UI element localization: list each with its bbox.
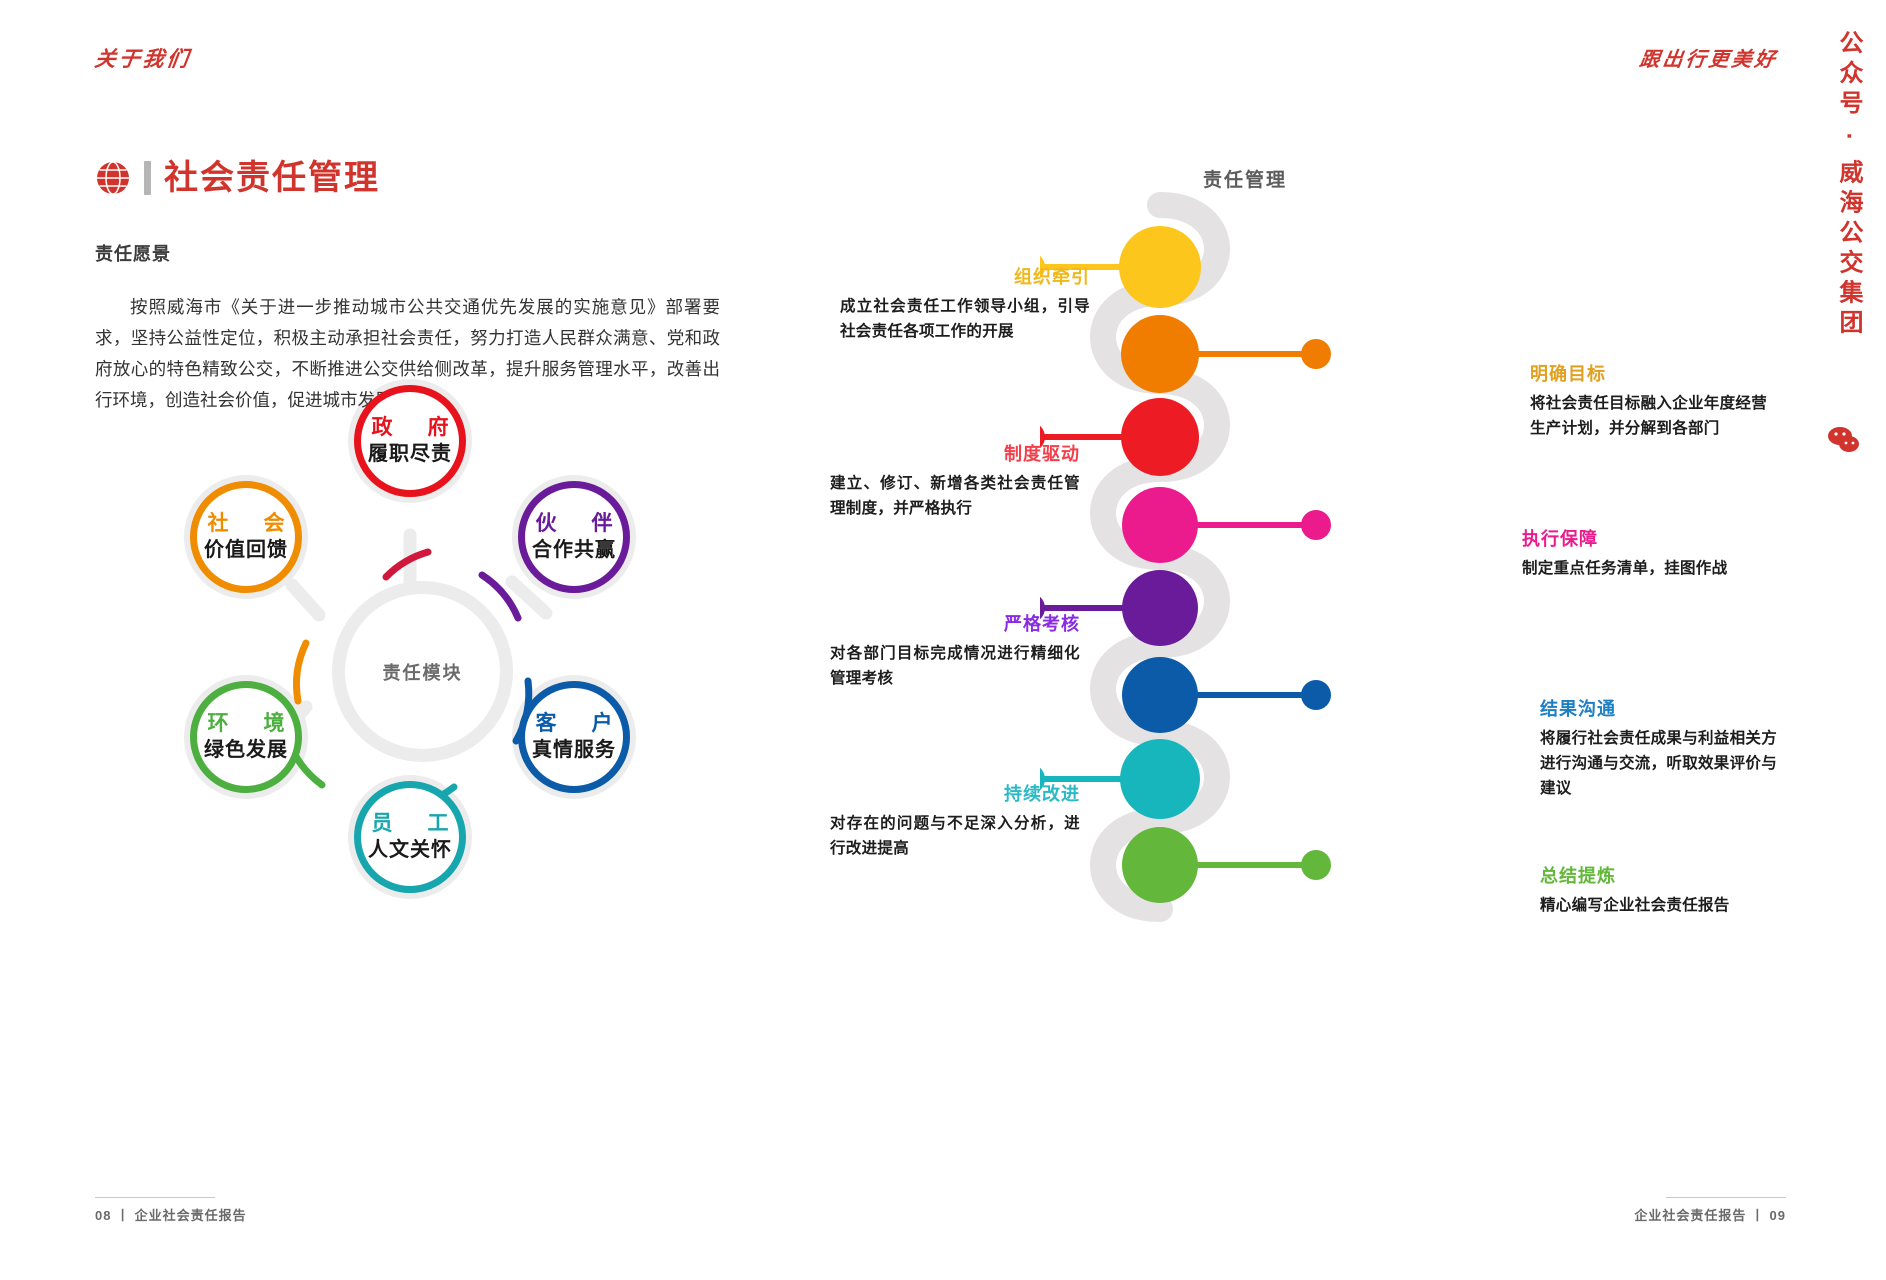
hub-center-label: 责任模块 (383, 659, 463, 685)
hub-node-government[interactable]: 政 府 履职尽责 (354, 385, 466, 497)
page-root: 关于我们 跟出行更美好 公众号 · 威海公交集团 社会责任管理 (0, 0, 1886, 1280)
flow-step-desc: 对各部门目标完成情况进行精细化管理考核 (830, 641, 1080, 691)
page-title-text: 社会责任管理 (164, 161, 380, 195)
flow-step-label: 组织牵引 (840, 263, 1090, 289)
flow-step-system-driven[interactable]: 制度驱动 建立、修订、新增各类社会责任管理制度，并严格执行 (830, 440, 1080, 521)
flow-step-clear-goals[interactable]: 明确目标 将社会责任目标融入企业年度经营生产计划，并分解到各部门 (1530, 360, 1780, 441)
hub-node-employee[interactable]: 员 工 人文关怀 (354, 781, 466, 893)
flow-step-desc: 成立社会责任工作领导小组，引导社会责任各项工作的开展 (840, 294, 1090, 344)
hub-node-title: 伙 伴 (529, 512, 620, 536)
flow-step-label: 明确目标 (1530, 360, 1780, 386)
flow-step-label: 持续改进 (830, 780, 1080, 806)
flow-step-desc: 制定重点任务清单，挂图作战 (1522, 556, 1772, 581)
title-divider (144, 161, 151, 195)
flow-step-organizational-traction[interactable]: 组织牵引 成立社会责任工作领导小组，引导社会责任各项工作的开展 (840, 263, 1090, 344)
flow-step-strict-assessment[interactable]: 严格考核 对各部门目标完成情况进行精细化管理考核 (830, 610, 1080, 691)
sub-heading: 责任愿景 (95, 240, 171, 266)
flow-step-summary-refinement[interactable]: 总结提炼 精心编写企业社会责任报告 (1540, 862, 1810, 918)
hub-node-society[interactable]: 社 会 价值回馈 (190, 481, 302, 593)
hub-node-subtitle: 绿色发展 (204, 738, 288, 762)
hub-node-title: 政 府 (365, 416, 456, 440)
flow-step-desc: 将社会责任目标融入企业年度经营生产计划，并分解到各部门 (1530, 391, 1780, 441)
flow-step-label: 执行保障 (1522, 525, 1772, 551)
hub-node-customer[interactable]: 客 户 真情服务 (518, 681, 630, 793)
flow-step-label: 总结提炼 (1540, 862, 1810, 888)
hub-node-subtitle: 人文关怀 (368, 838, 452, 862)
hub-node-title: 员 工 (365, 812, 456, 836)
footer-rule-left (95, 1197, 215, 1198)
flow-step-result-communication[interactable]: 结果沟通 将履行社会责任成果与利益相关方进行沟通与交流，听取效果评价与建议 (1540, 695, 1790, 801)
hub-node-environment[interactable]: 环 境 绿色发展 (190, 681, 302, 793)
hub-center: 责任模块 (332, 581, 513, 762)
flow-snake-path (1040, 165, 1600, 925)
footer-rule-right (1666, 1197, 1786, 1198)
hub-node-subtitle: 合作共赢 (532, 538, 616, 562)
globe-icon (95, 160, 131, 196)
responsibility-flow-diagram (1040, 165, 1600, 925)
running-head-left: 关于我们 (93, 43, 193, 73)
flow-step-label: 制度驱动 (830, 440, 1080, 466)
flow-step-label: 结果沟通 (1540, 695, 1790, 721)
page-title: 社会责任管理 (95, 160, 380, 196)
responsibility-hub-diagram: 责任模块 政 府 履职尽责 伙 伴 合作共赢 客 户 真情服务 员 工 人文关怀 (140, 385, 680, 915)
flow-step-desc: 将履行社会责任成果与利益相关方进行沟通与交流，听取效果评价与建议 (1540, 726, 1790, 801)
spine-text: 公众号 · 威海公交集团 (1831, 30, 1866, 339)
footer-left: 08 丨 企业社会责任报告 (95, 1205, 247, 1224)
hub-node-subtitle: 真情服务 (532, 738, 616, 762)
flow-step-desc: 建立、修订、新增各类社会责任管理制度，并严格执行 (830, 471, 1080, 521)
hub-node-subtitle: 价值回馈 (204, 538, 288, 562)
hub-node-title: 客 户 (529, 712, 620, 736)
hub-node-subtitle: 履职尽责 (368, 442, 452, 466)
flow-step-desc: 精心编写企业社会责任报告 (1540, 893, 1810, 918)
wechat-qr-icon (1824, 420, 1864, 460)
hub-node-title: 环 境 (201, 712, 292, 736)
hub-node-title: 社 会 (201, 512, 292, 536)
flow-step-execution-guarantee[interactable]: 执行保障 制定重点任务清单，挂图作战 (1522, 525, 1772, 581)
footer-right: 企业社会责任报告 丨 09 (1634, 1205, 1786, 1224)
flow-step-continuous-improvement[interactable]: 持续改进 对存在的问题与不足深入分析，进行改进提高 (830, 780, 1080, 861)
running-head-right: 跟出行更美好 (1638, 43, 1780, 72)
flow-step-desc: 对存在的问题与不足深入分析，进行改进提高 (830, 811, 1080, 861)
flow-step-label: 严格考核 (830, 610, 1080, 636)
hub-node-partner[interactable]: 伙 伴 合作共赢 (518, 481, 630, 593)
